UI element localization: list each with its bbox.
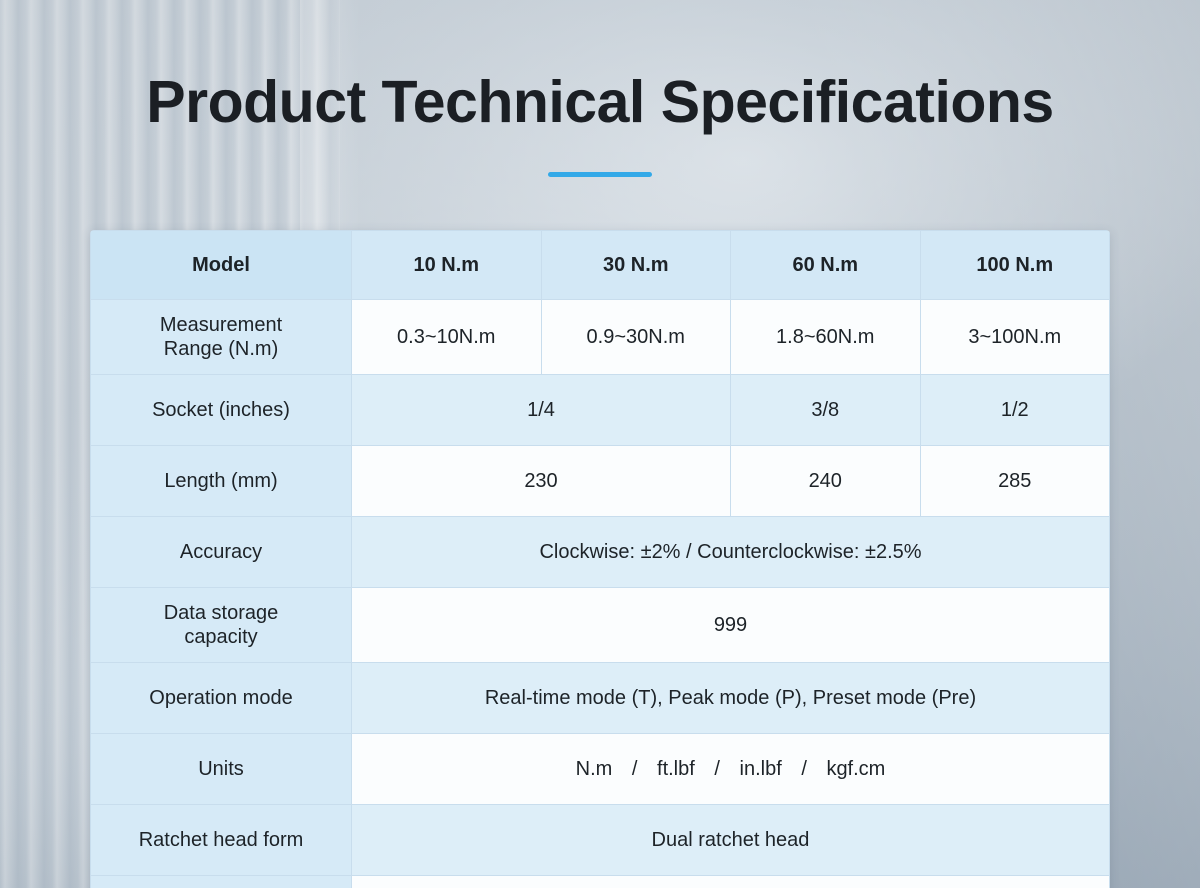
cell-ratchet-head-value: Dual ratchet head (352, 805, 1110, 876)
unit-separator-2: / (700, 758, 734, 780)
row-label-measurement-range: Measurement Range (N.m) (91, 300, 352, 375)
unit-kgfcm: kgf.cm (826, 758, 885, 780)
row-label-socket: Socket (inches) (91, 375, 352, 446)
col-header-30nm: 30 N.m (541, 231, 731, 300)
col-header-10nm: 10 N.m (352, 231, 542, 300)
title-underline-accent (548, 172, 652, 177)
cell-accuracy-value: Clockwise: ±2% / Counterclockwise: ±2.5% (352, 517, 1110, 588)
cell-data-storage-value: 999 (352, 588, 1110, 663)
table-row-ratchet-head-form: Ratchet head form Dual ratchet head (91, 805, 1110, 876)
row-label-data-storage-capacity: Data storage capacity (91, 588, 352, 663)
page-root: Product Technical Specifications Model 1… (0, 0, 1200, 888)
table-row-header: Model 10 N.m 30 N.m 60 N.m 100 N.m (91, 231, 1110, 300)
row-label-units: Units (91, 734, 352, 805)
row-label-length: Length (mm) (91, 446, 352, 517)
cell-range-30nm: 0.9~30N.m (541, 300, 731, 375)
row-label-accuracy: Accuracy (91, 517, 352, 588)
table-row-operation-mode: Operation mode Real-time mode (T), Peak … (91, 663, 1110, 734)
cell-length-10-30: 230 (352, 446, 731, 517)
col-header-60nm: 60 N.m (731, 231, 921, 300)
unit-ftlbf: ft.lbf (657, 758, 695, 780)
cell-range-100nm: 3~100N.m (920, 300, 1110, 375)
cell-battery-value: 2 AAA batteries (352, 876, 1110, 888)
table-row-measurement-range: Measurement Range (N.m) 0.3~10N.m 0.9~30… (91, 300, 1110, 375)
row-label-line-1: Data storage (99, 601, 343, 625)
cell-operation-mode-value: Real-time mode (T), Peak mode (P), Prese… (352, 663, 1110, 734)
cell-range-10nm: 0.3~10N.m (352, 300, 542, 375)
cell-length-60: 240 (731, 446, 921, 517)
unit-separator-3: / (787, 758, 821, 780)
row-label-operation-mode: Operation mode (91, 663, 352, 734)
table-row-units: Units N.m / ft.lbf / in.lbf / kgf.cm (91, 734, 1110, 805)
cell-socket-10-30: 1/4 (352, 375, 731, 446)
row-label-model: Model (91, 231, 352, 300)
unit-nm: N.m (576, 758, 613, 780)
table-row-accuracy: Accuracy Clockwise: ±2% / Counterclockwi… (91, 517, 1110, 588)
col-header-100nm: 100 N.m (920, 231, 1110, 300)
specifications-table-wrapper: Model 10 N.m 30 N.m 60 N.m 100 N.m Measu… (90, 230, 1110, 888)
cell-units-value: N.m / ft.lbf / in.lbf / kgf.cm (352, 734, 1110, 805)
row-label-line-1: Measurement (99, 313, 343, 337)
table-row-length: Length (mm) 230 240 285 (91, 446, 1110, 517)
cell-length-100: 285 (920, 446, 1110, 517)
row-label-line-2: capacity (99, 625, 343, 649)
cell-socket-100: 1/2 (920, 375, 1110, 446)
table-row-battery: Battery 2 AAA batteries (91, 876, 1110, 888)
table-row-data-storage-capacity: Data storage capacity 999 (91, 588, 1110, 663)
unit-separator-1: / (618, 758, 652, 780)
row-label-ratchet-head-form: Ratchet head form (91, 805, 352, 876)
cell-socket-60: 3/8 (731, 375, 921, 446)
specifications-table: Model 10 N.m 30 N.m 60 N.m 100 N.m Measu… (90, 230, 1110, 888)
table-row-socket: Socket (inches) 1/4 3/8 1/2 (91, 375, 1110, 446)
row-label-battery: Battery (91, 876, 352, 888)
page-title: Product Technical Specifications (0, 72, 1200, 134)
cell-range-60nm: 1.8~60N.m (731, 300, 921, 375)
row-label-line-2: Range (N.m) (99, 337, 343, 361)
unit-inlbf: in.lbf (740, 758, 782, 780)
